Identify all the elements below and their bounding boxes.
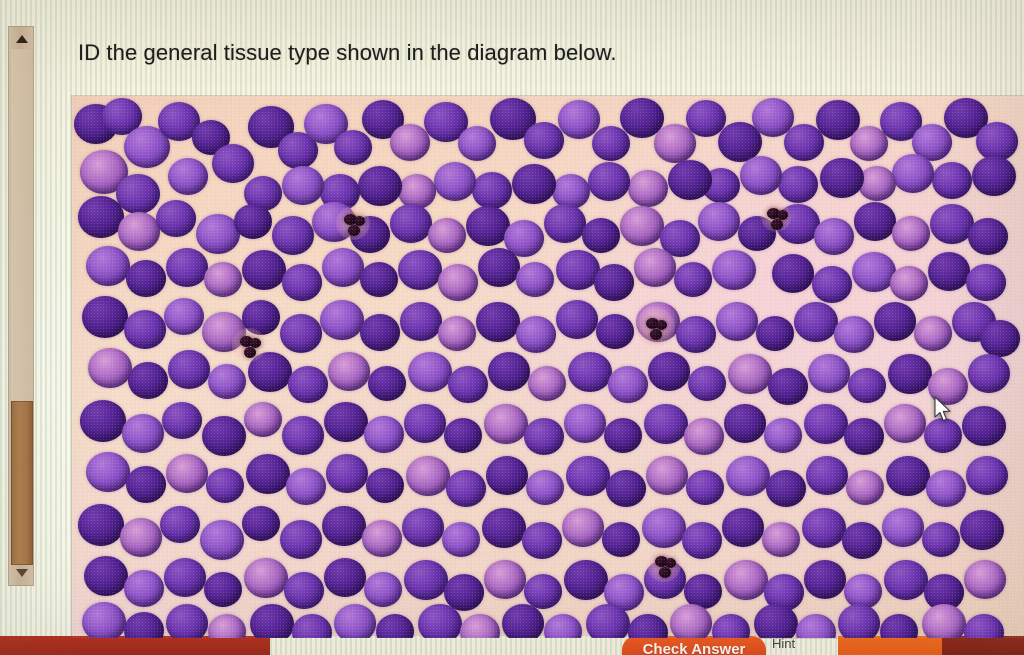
stained-cell: [882, 508, 924, 547]
stained-cell: [208, 614, 246, 638]
stained-cell: [324, 558, 366, 597]
stained-cell: [482, 508, 526, 548]
stained-cell: [676, 316, 716, 353]
stained-cell: [884, 560, 928, 600]
stained-cell: [608, 366, 648, 403]
stained-cell: [360, 262, 398, 297]
stained-cell: [524, 574, 562, 609]
micrograph-figure[interactable]: [72, 96, 1024, 638]
stained-cell: [156, 200, 196, 237]
stained-cell: [200, 520, 244, 560]
stained-cell: [428, 218, 466, 253]
stained-cell: [324, 402, 368, 442]
stained-cell: [244, 558, 288, 598]
granulocyte-nucleus-lobe: [659, 567, 671, 578]
stained-cell: [960, 510, 1004, 550]
stained-cell: [284, 572, 324, 609]
mouse-pointer-icon: [933, 396, 953, 424]
stained-cell: [682, 522, 722, 559]
stained-cell: [686, 470, 724, 505]
stained-cell: [980, 320, 1020, 357]
stained-cell: [168, 158, 208, 195]
stained-cell: [512, 164, 556, 204]
stained-cell: [778, 166, 818, 203]
question-prompt: ID the general tissue type shown in the …: [78, 38, 858, 68]
granulocyte-nucleus-lobe: [650, 329, 662, 340]
stained-cell: [964, 560, 1006, 599]
footer-bar-orange: [838, 636, 942, 655]
stained-cell: [794, 302, 838, 342]
stained-cell: [446, 470, 486, 507]
stained-cell: [628, 614, 668, 638]
stained-cell: [964, 614, 1004, 638]
stained-cell: [712, 614, 750, 638]
stained-cell: [892, 154, 934, 193]
stained-cell: [926, 470, 966, 507]
stained-cell: [418, 604, 462, 638]
stained-cell: [922, 522, 960, 557]
stained-cell: [320, 300, 364, 340]
stained-cell: [250, 604, 294, 638]
stained-cell: [848, 368, 886, 403]
cell-layer: [72, 96, 1024, 638]
stained-cell: [854, 202, 896, 241]
stained-cell: [246, 454, 290, 494]
stained-cell: [762, 522, 800, 557]
stained-cell: [322, 506, 366, 546]
stained-cell: [524, 122, 564, 159]
stained-cell: [166, 248, 208, 287]
stained-cell: [670, 604, 712, 638]
stained-cell: [528, 366, 566, 401]
stained-cell: [596, 314, 634, 349]
stained-cell: [586, 604, 630, 638]
stained-cell: [766, 470, 806, 507]
stained-cell: [602, 522, 640, 557]
stained-cell: [568, 352, 612, 392]
stained-cell: [726, 456, 770, 496]
stained-cell: [204, 572, 242, 607]
stained-cell: [80, 400, 126, 442]
stained-cell: [566, 456, 610, 496]
stained-cell: [484, 404, 528, 444]
stained-cell: [644, 404, 688, 444]
stained-cell: [722, 508, 764, 547]
stained-cell: [390, 204, 432, 243]
stained-cell: [966, 264, 1006, 301]
stained-cell: [168, 350, 210, 389]
stained-cell: [124, 310, 166, 349]
stained-cell: [122, 414, 164, 453]
stained-cell: [842, 522, 882, 559]
stained-cell: [968, 354, 1010, 393]
stained-cell: [544, 204, 586, 243]
stained-cell: [328, 352, 370, 391]
stained-cell: [358, 166, 402, 206]
stained-cell: [502, 604, 544, 638]
stained-cell: [398, 250, 442, 290]
stained-cell: [286, 468, 326, 505]
stained-cell: [834, 316, 874, 353]
stained-cell: [162, 402, 202, 439]
stained-cell: [280, 314, 322, 353]
stained-cell: [976, 122, 1018, 161]
stained-cell: [592, 126, 630, 161]
stained-cell: [764, 418, 802, 453]
stained-cell: [472, 172, 512, 209]
stained-cell: [524, 418, 564, 455]
stained-cell: [212, 144, 254, 183]
stained-cell: [688, 366, 726, 401]
stained-cell: [740, 156, 782, 195]
stained-cell: [272, 216, 314, 255]
stained-cell: [588, 162, 630, 201]
stained-cell: [558, 100, 600, 139]
stained-cell: [932, 162, 972, 199]
stained-cell: [326, 454, 368, 493]
stained-cell: [802, 508, 846, 548]
stained-cell: [360, 314, 400, 351]
stained-cell: [724, 404, 766, 443]
stained-cell: [728, 354, 772, 394]
stained-cell: [244, 402, 282, 437]
stained-cell: [674, 262, 712, 297]
stained-cell: [724, 560, 768, 600]
stained-cell: [562, 508, 604, 547]
stained-cell: [814, 218, 854, 255]
stained-cell: [126, 466, 166, 503]
stained-cell: [124, 570, 164, 607]
stained-cell: [858, 166, 896, 201]
stained-cell: [390, 124, 430, 161]
stained-cell: [406, 456, 450, 496]
granulocyte-nucleus-lobe: [244, 347, 256, 358]
stained-cell: [82, 296, 128, 338]
stained-cell: [208, 364, 246, 399]
stained-cell: [606, 470, 646, 507]
stained-cell: [972, 156, 1016, 196]
stained-cell: [772, 254, 814, 293]
stained-cell: [398, 174, 436, 209]
stained-cell: [620, 206, 664, 246]
stained-cell: [888, 354, 932, 394]
stained-cell: [206, 468, 244, 503]
stained-cell: [376, 614, 414, 638]
scroll-down-arrow-icon[interactable]: [9, 563, 35, 583]
stained-cell: [928, 252, 970, 291]
stained-cell: [202, 416, 246, 456]
stained-cell: [812, 266, 852, 303]
stained-cell: [844, 418, 884, 455]
footer-bar-left: [0, 636, 270, 655]
screen-photo: ID the general tissue type shown in the …: [0, 0, 1024, 655]
stained-cell: [282, 416, 324, 455]
stained-cell: [914, 316, 952, 351]
stained-cell: [712, 250, 756, 290]
stained-cell: [84, 556, 128, 596]
stained-cell: [86, 452, 130, 492]
stained-cell: [594, 264, 634, 301]
stained-cell: [478, 248, 520, 287]
stained-cell: [166, 604, 208, 638]
stained-cell: [82, 602, 126, 638]
stained-cell: [460, 614, 500, 638]
stained-cell: [756, 316, 794, 351]
stained-cell: [484, 560, 526, 599]
stained-cell: [646, 456, 688, 495]
stained-cell: [516, 316, 556, 353]
stained-cell: [880, 614, 918, 638]
granulocyte-nucleus-lobe: [348, 225, 360, 236]
stained-cell: [892, 216, 930, 251]
stained-cell: [334, 130, 372, 165]
stained-cell: [408, 352, 452, 392]
stained-cell: [564, 404, 606, 443]
stained-cell: [366, 468, 404, 503]
stained-cell: [78, 504, 124, 546]
stained-cell: [884, 404, 926, 443]
stained-cell: [556, 300, 598, 339]
stained-cell: [458, 126, 496, 161]
stained-cell: [282, 264, 322, 301]
stained-cell: [552, 174, 590, 209]
stained-cell: [334, 604, 376, 638]
scrollbar-thumb[interactable]: [11, 401, 33, 565]
stained-cell: [166, 454, 208, 493]
stained-cell: [242, 250, 286, 290]
stained-cell: [544, 614, 582, 638]
stained-cell: [796, 614, 836, 638]
stained-cell: [404, 404, 446, 443]
check-answer-button[interactable]: Check Answer: [622, 636, 766, 655]
vertical-scrollbar[interactable]: [8, 26, 34, 586]
stained-cell: [890, 266, 928, 301]
triangle-up-glyph: [16, 35, 28, 43]
stained-cell: [88, 348, 132, 388]
stained-cell: [448, 366, 488, 403]
stained-cell: [642, 508, 686, 548]
stained-cell: [242, 506, 280, 541]
stained-cell: [808, 354, 850, 393]
stained-cell: [886, 456, 930, 496]
stained-cell: [648, 352, 690, 391]
stained-cell: [322, 248, 364, 287]
stained-cell: [526, 470, 564, 505]
stained-cell: [362, 520, 402, 557]
stained-cell: [368, 366, 406, 401]
stained-cell: [804, 404, 848, 444]
stained-cell: [634, 248, 676, 287]
stained-cell: [438, 316, 476, 351]
stained-cell: [124, 612, 164, 638]
footer-bar-dark: [942, 636, 1024, 655]
stained-cell: [128, 362, 168, 399]
stained-cell: [118, 212, 160, 251]
stained-cell: [838, 604, 880, 638]
stained-cell: [280, 520, 322, 559]
stained-cell: [962, 406, 1006, 446]
scroll-up-arrow-icon[interactable]: [9, 29, 35, 49]
stained-cell: [582, 218, 620, 253]
stained-cell: [160, 506, 200, 543]
stained-cell: [874, 302, 916, 341]
stained-cell: [564, 560, 608, 600]
stained-cell: [516, 262, 554, 297]
stained-cell: [820, 158, 864, 198]
stained-cell: [754, 604, 798, 638]
stained-cell: [444, 418, 482, 453]
stained-cell: [846, 470, 884, 505]
stained-cell: [434, 162, 476, 201]
stained-cell: [400, 302, 442, 341]
stained-cell: [120, 518, 162, 557]
stained-cell: [806, 456, 848, 495]
stained-cell: [488, 352, 530, 391]
stained-cell: [804, 560, 846, 599]
stained-cell: [522, 522, 562, 559]
stained-cell: [684, 418, 724, 455]
stained-cell: [116, 174, 160, 214]
stained-cell: [968, 218, 1008, 255]
stained-cell: [922, 604, 966, 638]
stained-cell: [476, 302, 520, 342]
stained-cell: [164, 298, 204, 335]
stained-cell: [402, 508, 444, 547]
stained-cell: [204, 262, 242, 297]
stained-cell: [486, 456, 528, 495]
stained-cell: [86, 246, 130, 286]
stained-cell: [164, 558, 206, 597]
stained-cell: [288, 366, 328, 403]
stained-cell: [716, 302, 758, 341]
stained-cell: [282, 166, 324, 205]
stained-cell: [234, 204, 272, 239]
stained-cell: [442, 522, 480, 557]
stained-cell: [292, 614, 332, 638]
stained-cell: [404, 560, 448, 600]
stained-cell: [126, 260, 166, 297]
stained-cell: [364, 572, 402, 607]
stained-cell: [698, 202, 740, 241]
granulocyte-nucleus-lobe: [771, 219, 783, 230]
stained-cell: [364, 416, 404, 453]
stained-cell: [628, 170, 668, 207]
triangle-down-glyph: [16, 569, 28, 577]
stained-cell: [438, 264, 478, 301]
stained-cell: [966, 456, 1008, 495]
stained-cell: [768, 368, 808, 405]
stained-cell: [604, 418, 642, 453]
